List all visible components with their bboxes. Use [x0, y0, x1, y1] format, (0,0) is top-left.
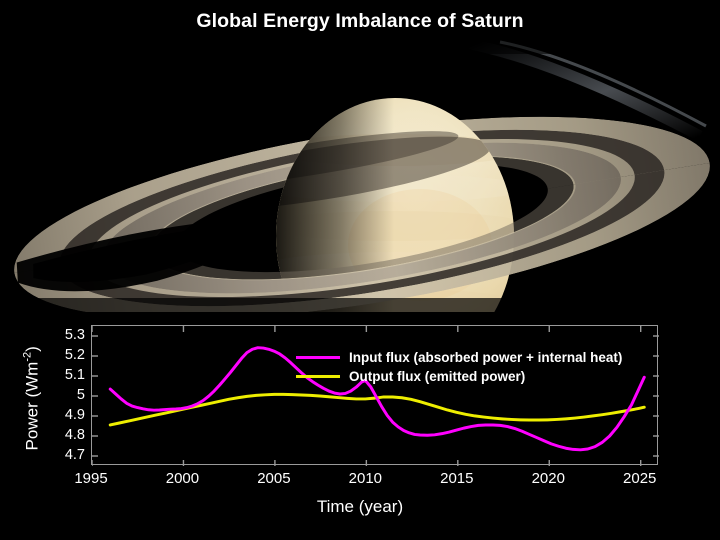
- x-tick-label: 2020: [518, 471, 578, 486]
- x-tick-label: 2005: [244, 471, 304, 486]
- page-title: Global Energy Imbalance of Saturn: [0, 10, 720, 33]
- x-tick-label: 1995: [61, 471, 121, 486]
- y-axis-title-close: ): [22, 346, 41, 352]
- y-axis-title: Power (Wm-2): [22, 308, 43, 488]
- x-tick-label: 2010: [335, 471, 395, 486]
- x-tick-label: 2015: [427, 471, 487, 486]
- saturn-image-panel: [0, 40, 720, 312]
- y-axis-title-base: Power (Wm: [22, 362, 41, 451]
- x-axis-title: Time (year): [0, 497, 720, 517]
- x-tick-label: 2000: [152, 471, 212, 486]
- saturn-illustration: [0, 40, 720, 312]
- x-tick-label: 2025: [610, 471, 670, 486]
- y-axis-title-exponent: -2: [22, 352, 34, 362]
- chart-panel: Input flux (absorbed power + internal he…: [0, 310, 720, 540]
- figure-root: Global Energy Imbalance of Saturn: [0, 0, 720, 540]
